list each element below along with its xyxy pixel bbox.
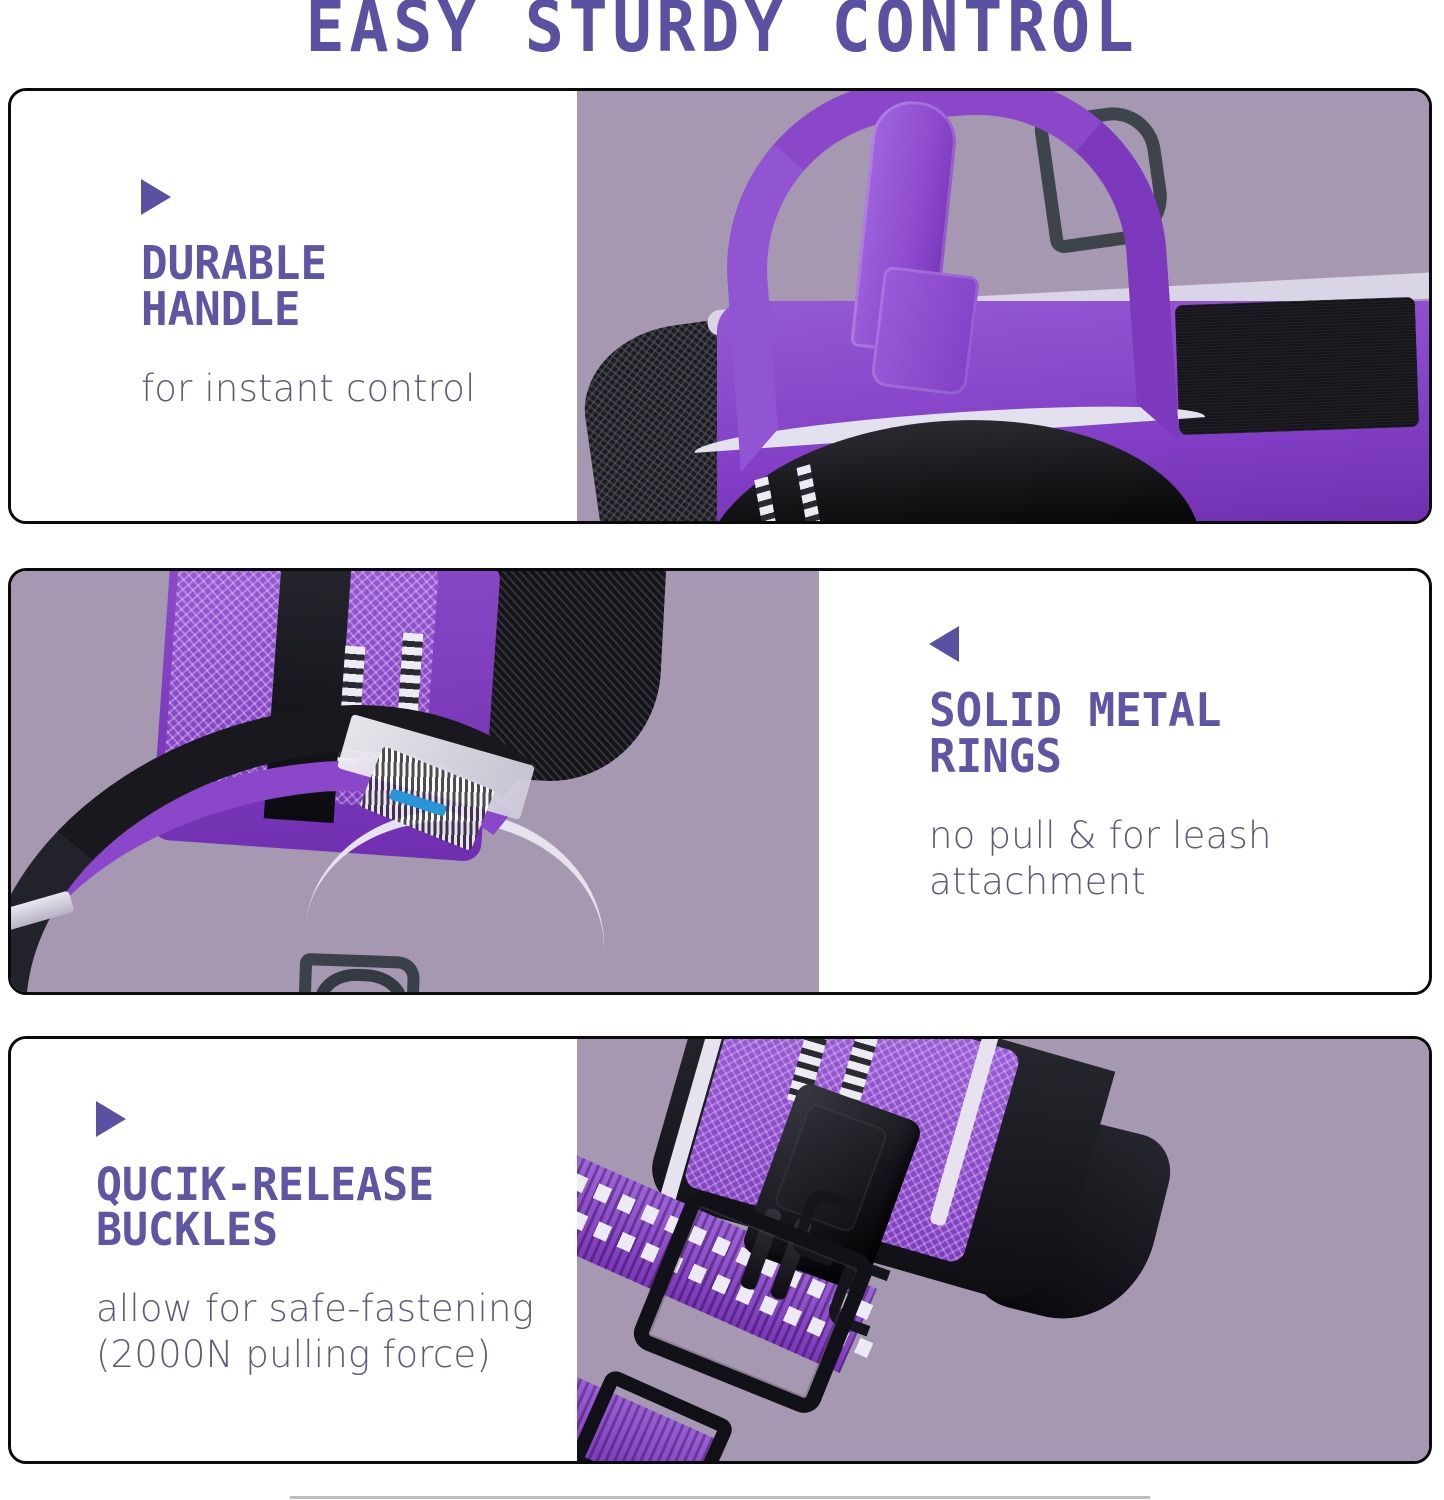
next-section-edge (290, 1496, 1150, 1499)
panel-1-headline: DURABLE HANDLE (141, 241, 560, 332)
panel-2-subline: no pull & for leash attachment (929, 813, 1429, 906)
feature-panel-quick-release-buckles: QUCIK-RELEASE BUCKLES allow for safe-fas… (8, 1036, 1432, 1464)
reflective-stripe (754, 476, 781, 521)
panel-2-headline: SOLID METAL RINGS (929, 688, 1409, 779)
panel-1-subline: for instant control (141, 366, 577, 412)
harness-velcro-patch (1175, 297, 1419, 435)
panel-2-product-photo (11, 571, 819, 992)
triangle-left-icon (929, 626, 959, 662)
triangle-right-icon (141, 179, 171, 215)
panel-3-headline: QUCIK-RELEASE BUCKLES (96, 1163, 558, 1252)
harness-handle-stitched-tab (870, 266, 980, 397)
panel-2-text-column: SOLID METAL RINGS no pull & for leash at… (819, 571, 1429, 992)
panel-3-subline: allow for safe-fastening (2000N pulling … (96, 1286, 577, 1379)
panel-3-text-column: QUCIK-RELEASE BUCKLES allow for safe-fas… (11, 1039, 577, 1461)
webbing-adjuster-slider (577, 1368, 736, 1461)
panel-1-text-column: DURABLE HANDLE for instant control (11, 91, 577, 521)
page-title: EASY STURDY CONTROL (51, 0, 1394, 62)
feature-panel-solid-metal-rings: SOLID METAL RINGS no pull & for leash at… (8, 568, 1432, 995)
triangle-right-icon (96, 1101, 126, 1137)
panel-1-product-photo (577, 91, 1429, 521)
panel-3-product-photo (577, 1039, 1429, 1461)
feature-panel-durable-handle: DURABLE HANDLE for instant control (8, 88, 1432, 524)
reflective-stripe (797, 464, 824, 521)
